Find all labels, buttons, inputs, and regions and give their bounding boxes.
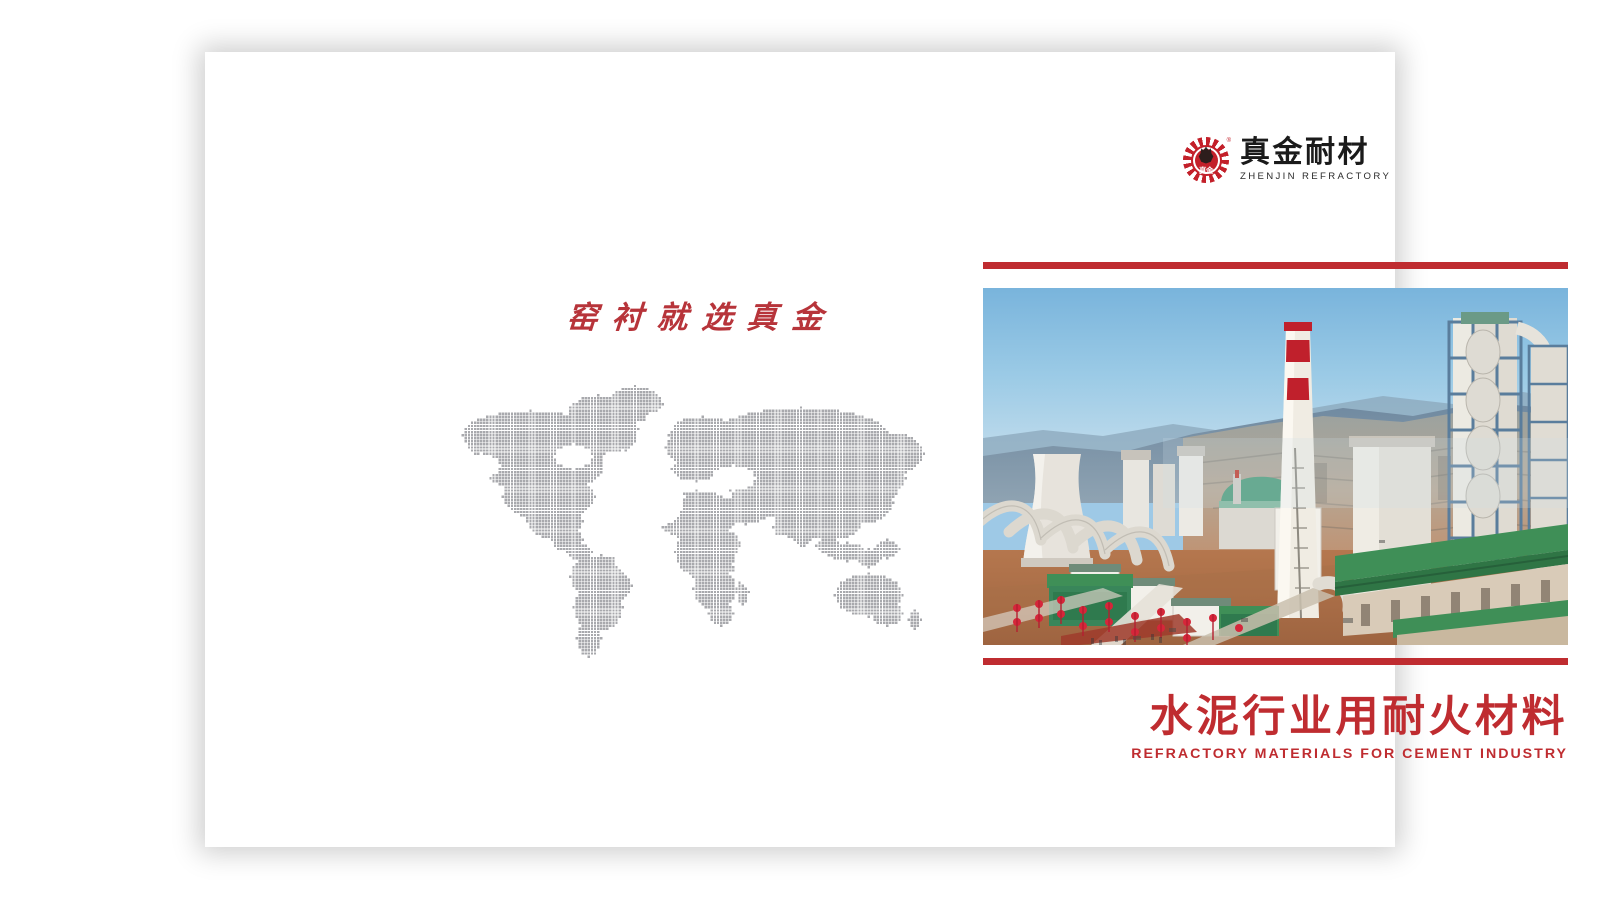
page-title-en: REFRACTORY MATERIALS FOR CEMENT INDUSTRY [983, 746, 1568, 762]
cement-plant-photo [983, 288, 1568, 645]
trademark-icon: ® [1227, 138, 1231, 144]
brand-wordmark: 真金耐材 ZHENJIN REFRACTORY [1240, 138, 1391, 182]
dotted-world-map [437, 372, 929, 662]
accent-rule-top [983, 262, 1568, 269]
zhenjin-flame-gear-logo-icon: 真金 ® [1183, 137, 1229, 183]
brochure-cover-page: 真金 ® 真金耐材 ZHENJIN REFRACTORY 窑衬就选真金 [205, 52, 1395, 847]
logo-inner-label: 真金 [1183, 167, 1229, 175]
brand-name-en: ZHENJIN REFRACTORY [1240, 172, 1391, 182]
accent-rule-bottom [983, 658, 1568, 665]
brand-name-cn: 真金耐材 [1240, 138, 1391, 168]
brand-logo-lockup: 真金 ® 真金耐材 ZHENJIN REFRACTORY [1183, 137, 1391, 183]
page-title-cn: 水泥行业用耐火材料 [983, 692, 1568, 742]
screenshot-canvas: 真金 ® 真金耐材 ZHENJIN REFRACTORY 窑衬就选真金 [0, 0, 1600, 900]
calligraphy-slogan: 窑衬就选真金 [565, 292, 838, 337]
